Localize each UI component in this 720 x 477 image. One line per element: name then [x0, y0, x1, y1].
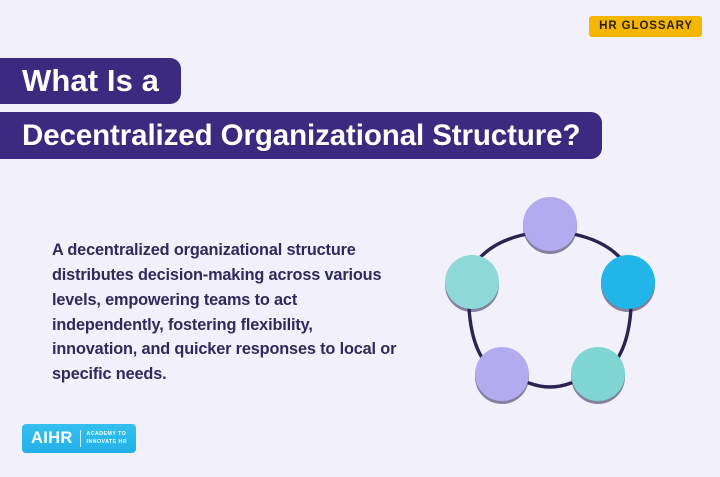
page-title-line-1: What Is a [0, 58, 181, 104]
ring-arc-bottomright-bottomleft [529, 383, 571, 387]
page-title-line-1-text: What Is a [22, 63, 159, 99]
aihr-logo: AIHR ACADEMY TO INNOVATE HR [22, 424, 136, 453]
hr-glossary-card: HR GLOSSARY What Is a Decentralized Orga… [0, 0, 720, 477]
aihr-logo-tagline: ACADEMY TO INNOVATE HR [87, 431, 127, 446]
diagram-node-top [523, 197, 577, 251]
page-title-line-2-text: Decentralized Organizational Structure? [22, 119, 580, 153]
diagram-node-bottom-left [475, 347, 529, 401]
aihr-logo-wordmark: AIHR [31, 430, 73, 447]
logo-divider [80, 430, 81, 447]
page-title-line-2: Decentralized Organizational Structure? [0, 112, 602, 159]
definition-paragraph: A decentralized organizational structure… [52, 238, 397, 387]
diagram-node-right [601, 255, 655, 309]
diagram-node-bottom-right [571, 347, 625, 401]
diagram-node-left [445, 255, 499, 309]
decentralized-ring-diagram [432, 188, 668, 410]
ring-diagram-svg [432, 188, 668, 410]
status-badge: HR GLOSSARY [589, 16, 702, 37]
aihr-logo-tagline-line-1: ACADEMY TO [87, 431, 127, 437]
aihr-logo-tagline-line-2: INNOVATE HR [87, 439, 127, 445]
